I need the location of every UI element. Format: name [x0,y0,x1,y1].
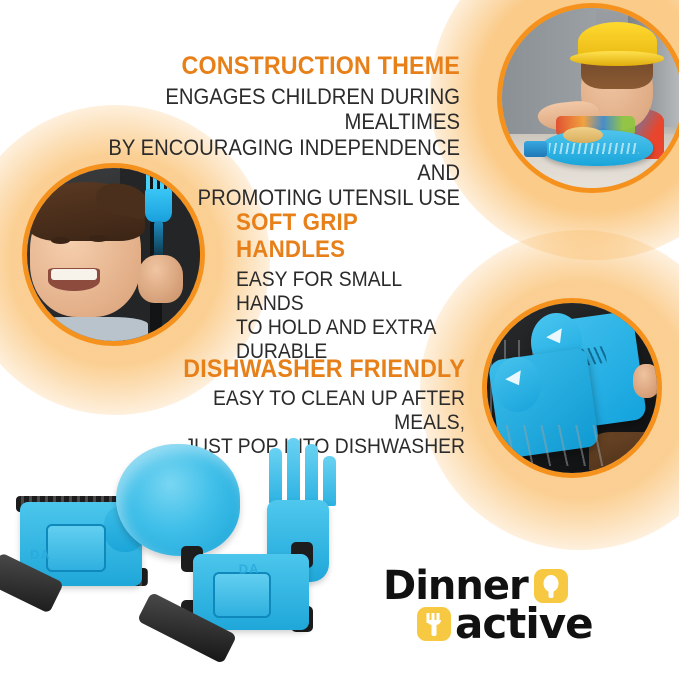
photo-dishwasher-friendly [482,298,662,478]
child-smile [48,268,100,290]
fork-tine [305,444,318,504]
product-photo-utensils: DA DA [0,440,400,684]
fork-tine [269,448,282,504]
toy-truck [524,141,547,157]
feature-body-line: BY ENCOURAGING INDEPENDENCE AND [92,135,460,186]
food-portion [563,127,603,143]
fork-brand-emboss: DA [238,561,273,592]
photo-construction-theme [497,3,679,193]
feature-heading: CONSTRUCTION THEME [88,52,460,80]
fork-icon [417,607,451,641]
feature-body-line: EASY TO CLEAN UP AFTER MEALS, [166,387,465,435]
feature-body: EASY FOR SMALL HANDS TO HOLD AND EXTRA D… [236,268,466,365]
child-hand [138,255,183,303]
plate-tread-detail [549,143,639,154]
scene-kitchen [502,8,679,188]
logo-word-active: active [455,599,593,648]
feature-block-soft-grip-handles: SOFT GRIP HANDLES EASY FOR SMALL HANDS T… [236,210,486,364]
hand-loading-dishwasher [633,364,660,398]
logo-line-active: active [417,599,593,648]
brand-logo: Dinner active [383,563,668,643]
child-shirt [27,317,148,341]
infographic-canvas: CONSTRUCTION THEME ENGAGES CHILDREN DURI… [0,0,679,684]
spoon-icon [534,569,568,603]
feature-heading: DISHWASHER FRIENDLY [163,355,465,383]
teeth [51,269,97,279]
spoon-stem-shape [548,588,553,598]
feature-body-line: PROMOTING UTENSIL USE [92,185,460,210]
feature-body-line: ENGAGES CHILDREN DURING MEALTIMES [92,84,460,135]
feature-heading: SOFT GRIP HANDLES [236,210,469,264]
hard-hat-brim [570,51,664,65]
feature-block-construction-theme: CONSTRUCTION THEME ENGAGES CHILDREN DURI… [60,52,460,210]
spoon-brand-emboss: DA [30,548,62,576]
feature-body-line: TO HOLD AND EXTRA [236,316,466,340]
fork-tine [323,456,336,506]
fork-stem-shape [432,623,437,636]
feature-body-line: EASY FOR SMALL HANDS [236,268,466,316]
feature-body: ENGAGES CHILDREN DURING MEALTIMES BY ENC… [92,84,460,210]
scene-dishwasher [487,303,657,473]
fork-tine [287,438,300,504]
dishwasher-rack-tines [497,425,609,466]
